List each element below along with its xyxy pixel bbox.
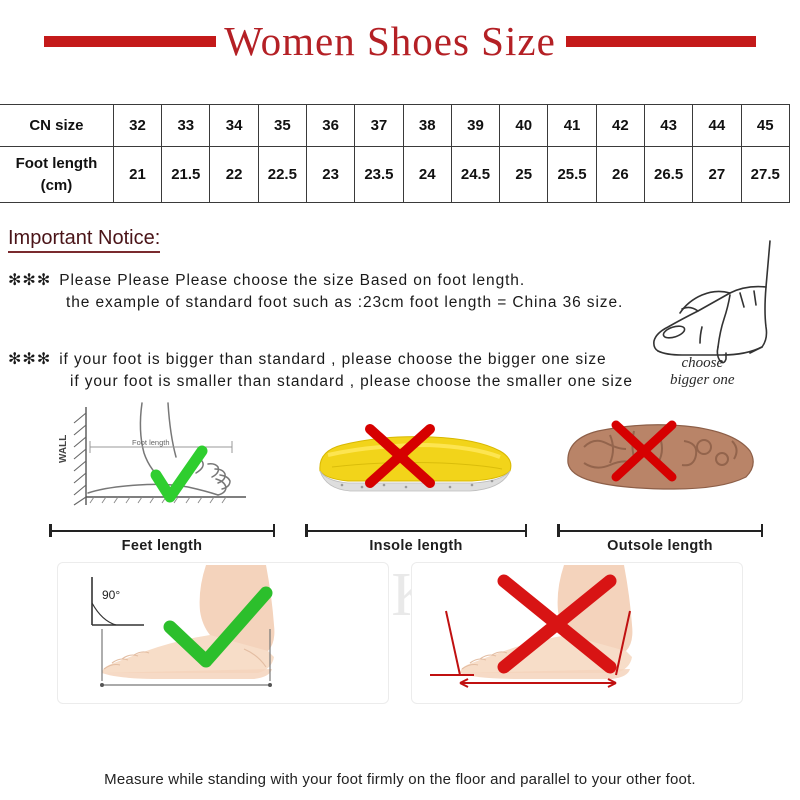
foot-length-cell-22.5: 22.5 [258,147,306,203]
cn-size-cell-43: 43 [644,105,692,147]
inner-foot-length-label: Foot length [132,438,170,447]
cn-size-cell-33: 33 [162,105,210,147]
table-row-cn-size: CN size 3233343536373839404142434445 [0,105,790,147]
notice-bullet-icon: ✻✻✻ [8,272,51,289]
foot-length-cell-27.5: 27.5 [741,147,789,203]
page-title: Women Shoes Size [220,17,560,65]
feet-length-diagram-icon: Foot length WALL [46,401,278,517]
outsole-measure-bar [554,524,766,536]
cn-size-cell-40: 40 [500,105,548,147]
size-chart-table: CN size 3233343536373839404142434445 Foo… [0,104,790,203]
foot-length-cell-22: 22 [210,147,258,203]
row-header-foot-length: Foot length (cm) [0,147,113,203]
panel-outsole-length: Outsole length [554,401,766,554]
foot-length-cell-26: 26 [596,147,644,203]
insole-diagram-icon [302,401,530,517]
measurement-panels-row: Foot length WALL Feet length [0,394,800,554]
foot-length-cell-23.5: 23.5 [355,147,403,203]
size-table-wrap: CN size 3233343536373839404142434445 Foo… [0,82,800,203]
panel-caption-outsole-length: Outsole length [554,538,766,554]
notice-bullet-icon-2: ✻✻✻ [8,351,51,368]
row-header-cn-size: CN size [0,105,113,147]
title-rule-right [566,36,756,47]
cn-size-cell-41: 41 [548,105,596,147]
angle-label-90: 90° [102,588,120,602]
foot-length-cell-24: 24 [403,147,451,203]
cn-size-cell-42: 42 [596,105,644,147]
panel-feet-length: Foot length WALL Feet length [46,401,278,554]
green-check-icon [156,451,202,497]
panel-caption-feet-length: Feet length [46,538,278,554]
foot-length-cell-24.5: 24.5 [451,147,499,203]
foot-length-cell-27: 27 [693,147,741,203]
panel-caption-insole-length: Insole length [302,538,530,554]
sketch-caption: choose bigger one [670,355,735,389]
foot-length-cell-23: 23 [307,147,355,203]
foot-length-cell-21: 21 [113,147,161,203]
insole-measure-bar [302,524,530,536]
title-rule-left [44,36,216,47]
cn-size-cell-38: 38 [403,105,451,147]
panel-insole-length: Insole length [302,401,530,554]
cn-size-cell-35: 35 [258,105,306,147]
cn-size-cell-36: 36 [307,105,355,147]
foot-length-cell-21.5: 21.5 [162,147,210,203]
foot-length-cell-26.5: 26.5 [644,147,692,203]
page-title-banner: Women Shoes Size [0,0,800,82]
cn-size-cell-39: 39 [451,105,499,147]
cn-size-cell-44: 44 [693,105,741,147]
feet-length-measure-bar [46,524,278,536]
standing-correct-icon: 90° [58,563,388,703]
cn-size-cell-45: 45 [741,105,789,147]
cn-size-cell-32: 32 [113,105,161,147]
notice-heading: Important Notice: [8,227,160,253]
outsole-diagram-icon [554,401,766,517]
foot-length-cell-25.5: 25.5 [548,147,596,203]
cn-size-cell-37: 37 [355,105,403,147]
wall-label: WALL [58,435,69,463]
panel-standing-wrong [411,562,743,704]
footer-caption: Measure while standing with your foot fi… [0,771,800,788]
foot-length-cell-25: 25 [500,147,548,203]
important-notice-section: Important Notice: ✻✻✻Please Please Pleas… [0,203,800,394]
foot-side-view-sketch: choose bigger one [642,227,792,397]
standing-posture-panels-row: 90° [0,554,800,704]
standing-wrong-icon [412,563,742,703]
panel-standing-correct: 90° [57,562,389,704]
cn-size-cell-34: 34 [210,105,258,147]
table-row-foot-length: Foot length (cm) 2121.52222.52323.52424.… [0,147,790,203]
